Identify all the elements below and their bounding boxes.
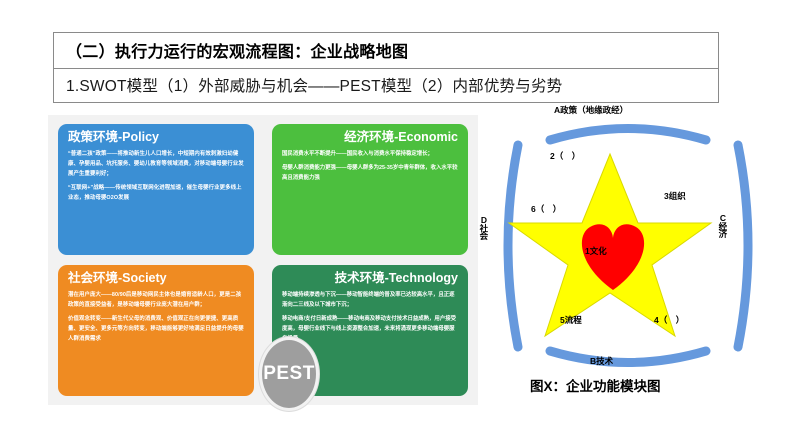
pest-quadrant-society: 社会环境-Society 潜在用户庞大——80/90后是移动网民主体也是婚育适龄… (58, 265, 254, 396)
quadrant-paragraph: “普通二孩”政策——将推动新生儿人口增长，中短期内有效刺激妇幼健康、孕婴用品、坑… (68, 149, 244, 179)
quadrant-body-technology: 移动端持续渗透与下沉——移动智能终端的普及率已达较高水平，且正逐渐向二三线及以下… (282, 290, 458, 344)
header-line-1: （二）执行力运行的宏观流程图：企业战略地图 (54, 33, 718, 69)
star-label-d-society: D社会 (479, 215, 488, 239)
star-point-label-6: 6（ ） (531, 205, 561, 214)
quadrant-paragraph: 移动电商/支付日新成熟——移动电商及移动支付技术日益成熟，用户接受度高，母婴行业… (282, 314, 458, 344)
enterprise-function-module-diagram: A政策（地缘政经） B技术 C经济 D社会 1文化 2（ ） 3组织 4（ ） … (478, 105, 778, 405)
pest-quadrant-policy: 政策环境-Policy “普通二孩”政策——将推动新生儿人口增长，中短期内有效刺… (58, 124, 254, 255)
star-point-label-2: 2（ ） (550, 152, 580, 161)
header-line-2: 1.SWOT模型（1）外部威胁与机会——PEST模型（2）内部优势与劣势 (54, 69, 718, 102)
quadrant-paragraph: 潜在用户庞大——80/90后是移动网民主体也是婚育适龄人口，更是二孩政策的直接受… (68, 290, 244, 310)
quadrant-paragraph: 移动端持续渗透与下沉——移动智能终端的普及率已达较高水平，且正逐渐向二三线及以下… (282, 290, 458, 310)
quadrant-title-economic: 经济环境-Economic (282, 131, 458, 145)
star-point-label-4: 4（ ） (654, 316, 684, 325)
quadrant-title-technology: 技术环境-Technology (282, 272, 458, 286)
star-label-c-economy: C经济 (718, 213, 727, 237)
star-label-a-policy: A政策（地缘政经） (554, 106, 628, 115)
star-point-label-5-process: 5流程 (560, 316, 582, 325)
pest-center-circle: PEST (259, 337, 319, 411)
star-heart-graphic (478, 105, 778, 405)
arc-left (508, 145, 518, 347)
quadrant-paragraph: “互联网+”战略——传统领域互联网化进程加速，催生母婴行业更多线上业态，推动母婴… (68, 183, 244, 203)
star-point-label-3-organization: 3组织 (664, 192, 686, 201)
quadrant-body-policy: “普通二孩”政策——将推动新生儿人口增长，中短期内有效刺激妇幼健康、孕婴用品、坑… (68, 149, 244, 203)
star-label-b-technology: B技术 (590, 357, 613, 366)
quadrant-paragraph: 国民消费水平不断提升——国民收入与消费水平保持稳定增长； (282, 149, 458, 159)
arc-right (738, 145, 748, 347)
pest-diagram: 政策环境-Policy “普通二孩”政策——将推动新生儿人口增长，中短期内有效刺… (48, 115, 478, 405)
arc-top (550, 129, 706, 141)
quadrant-body-economic: 国民消费水平不断提升——国民收入与消费水平保持稳定增长； 母婴人群消费能力更强—… (282, 149, 458, 183)
pest-quadrant-economic: 经济环境-Economic 国民消费水平不断提升——国民收入与消费水平保持稳定增… (272, 124, 468, 255)
quadrant-title-society: 社会环境-Society (68, 272, 244, 286)
quadrant-paragraph: 母婴人群消费能力更强——母婴人群多为25-35岁中青年群体，收入水平较高且消费能… (282, 163, 458, 183)
quadrant-paragraph: 价值观念转变——新生代父母的消费观、价值观正在向更便捷、更高质量、更安全、更多元… (68, 314, 244, 344)
star-point-label-1-culture: 1文化 (585, 247, 607, 256)
arc-bottom (550, 351, 706, 363)
quadrant-body-society: 潜在用户庞大——80/90后是移动网民主体也是婚育适龄人口，更是二孩政策的直接受… (68, 290, 244, 344)
quadrant-title-policy: 政策环境-Policy (68, 131, 244, 145)
title-header: （二）执行力运行的宏观流程图：企业战略地图 1.SWOT模型（1）外部威胁与机会… (53, 32, 719, 103)
star-diagram-caption: 图X：企业功能模块图 (530, 375, 661, 395)
